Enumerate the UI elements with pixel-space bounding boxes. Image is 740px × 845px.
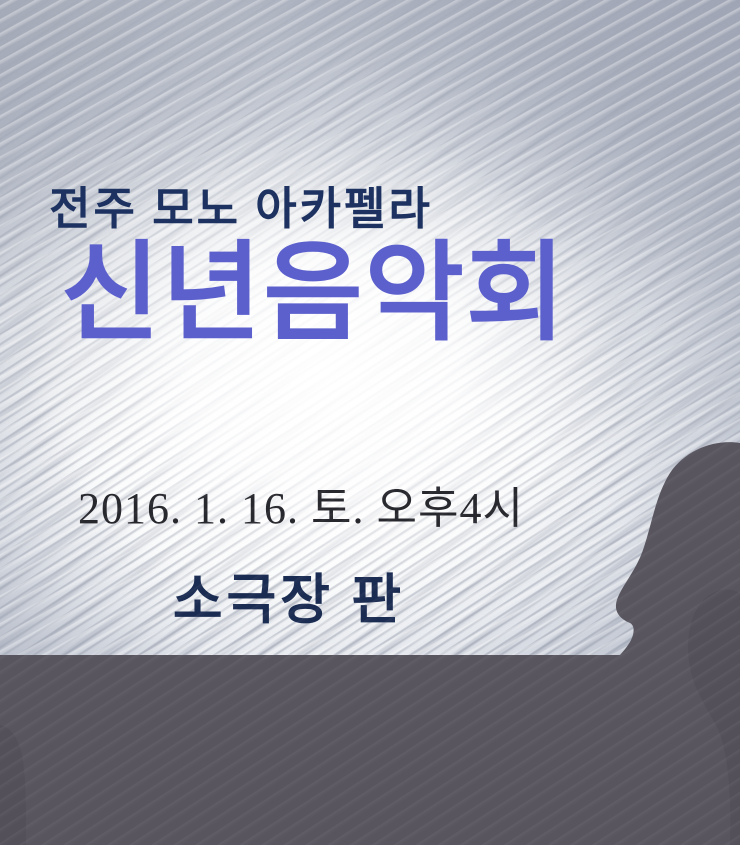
concert-poster: 전주 모노 아카펠라 신년음악회 2016. 1. 16. 토. 오후4시 소극… xyxy=(0,0,740,845)
crowd-silhouette-shapes xyxy=(0,425,740,845)
group-name-heading: 전주 모노 아카펠라 xyxy=(0,172,740,237)
poster-title: 신년음악회 xyxy=(0,235,740,352)
audience-crowd-silhouette xyxy=(0,425,740,845)
